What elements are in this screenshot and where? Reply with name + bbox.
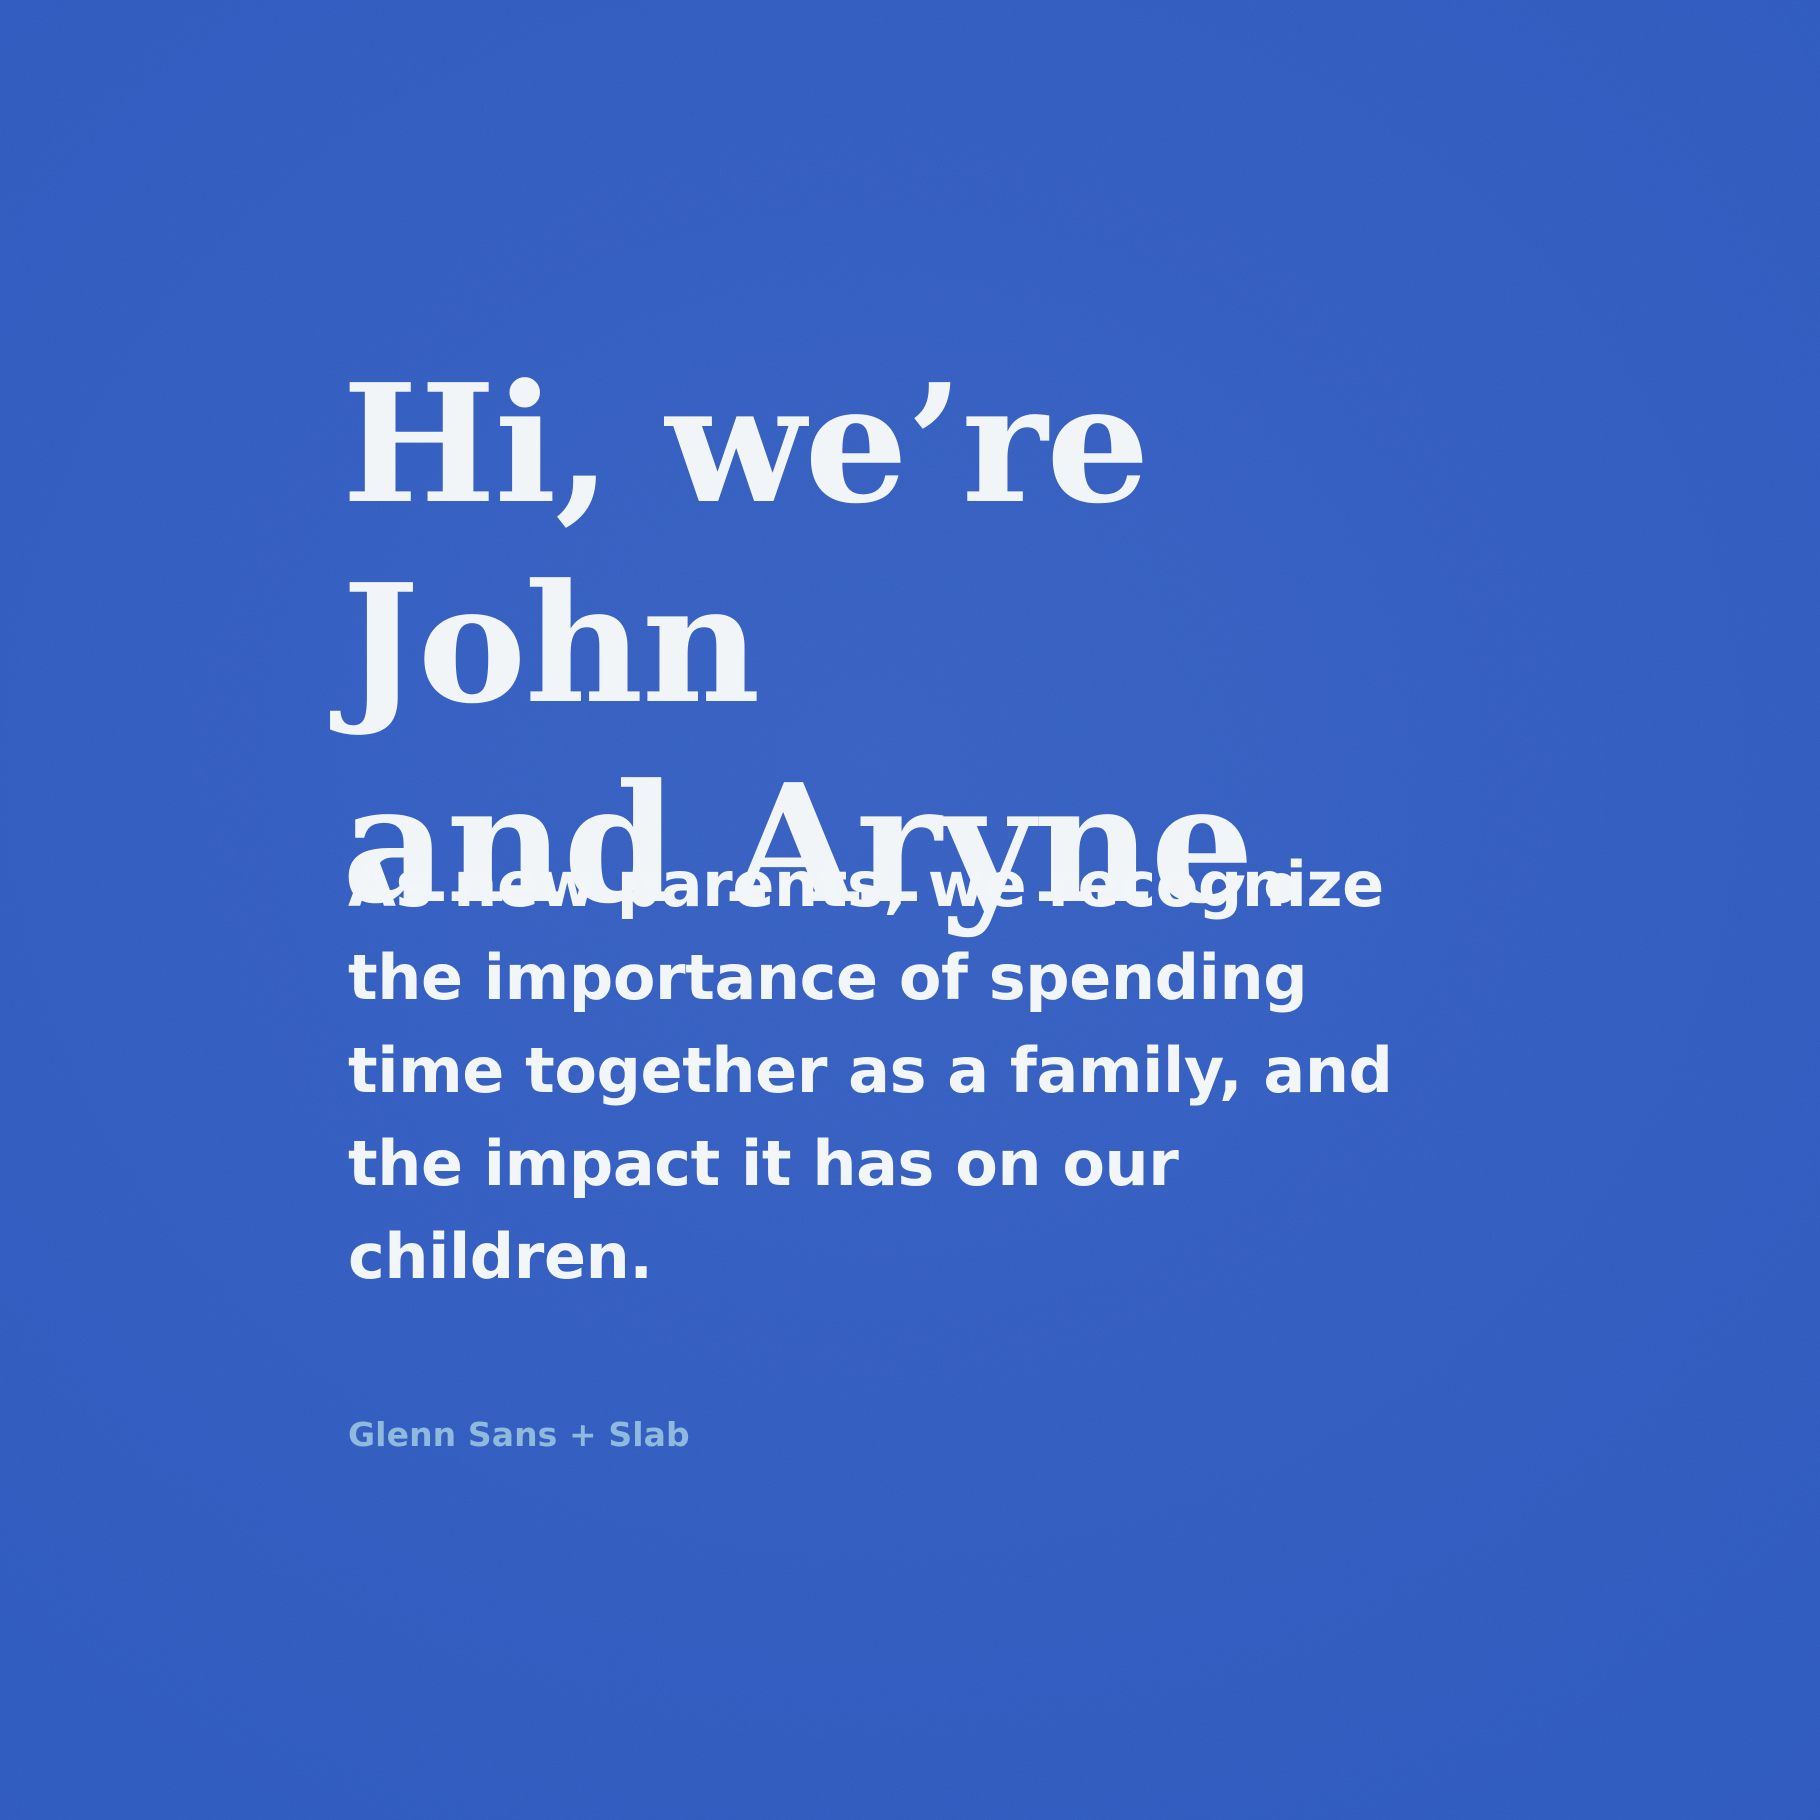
body-paragraph: As new parents, we recognize the importa… xyxy=(348,838,1468,1303)
poster-canvas: Hi, we’re John and Aryne. As new parents… xyxy=(0,0,1820,1820)
poster-content: Hi, we’re John and Aryne. As new parents… xyxy=(348,0,1578,1820)
typeface-caption: Glenn Sans + Slab xyxy=(348,1415,690,1454)
